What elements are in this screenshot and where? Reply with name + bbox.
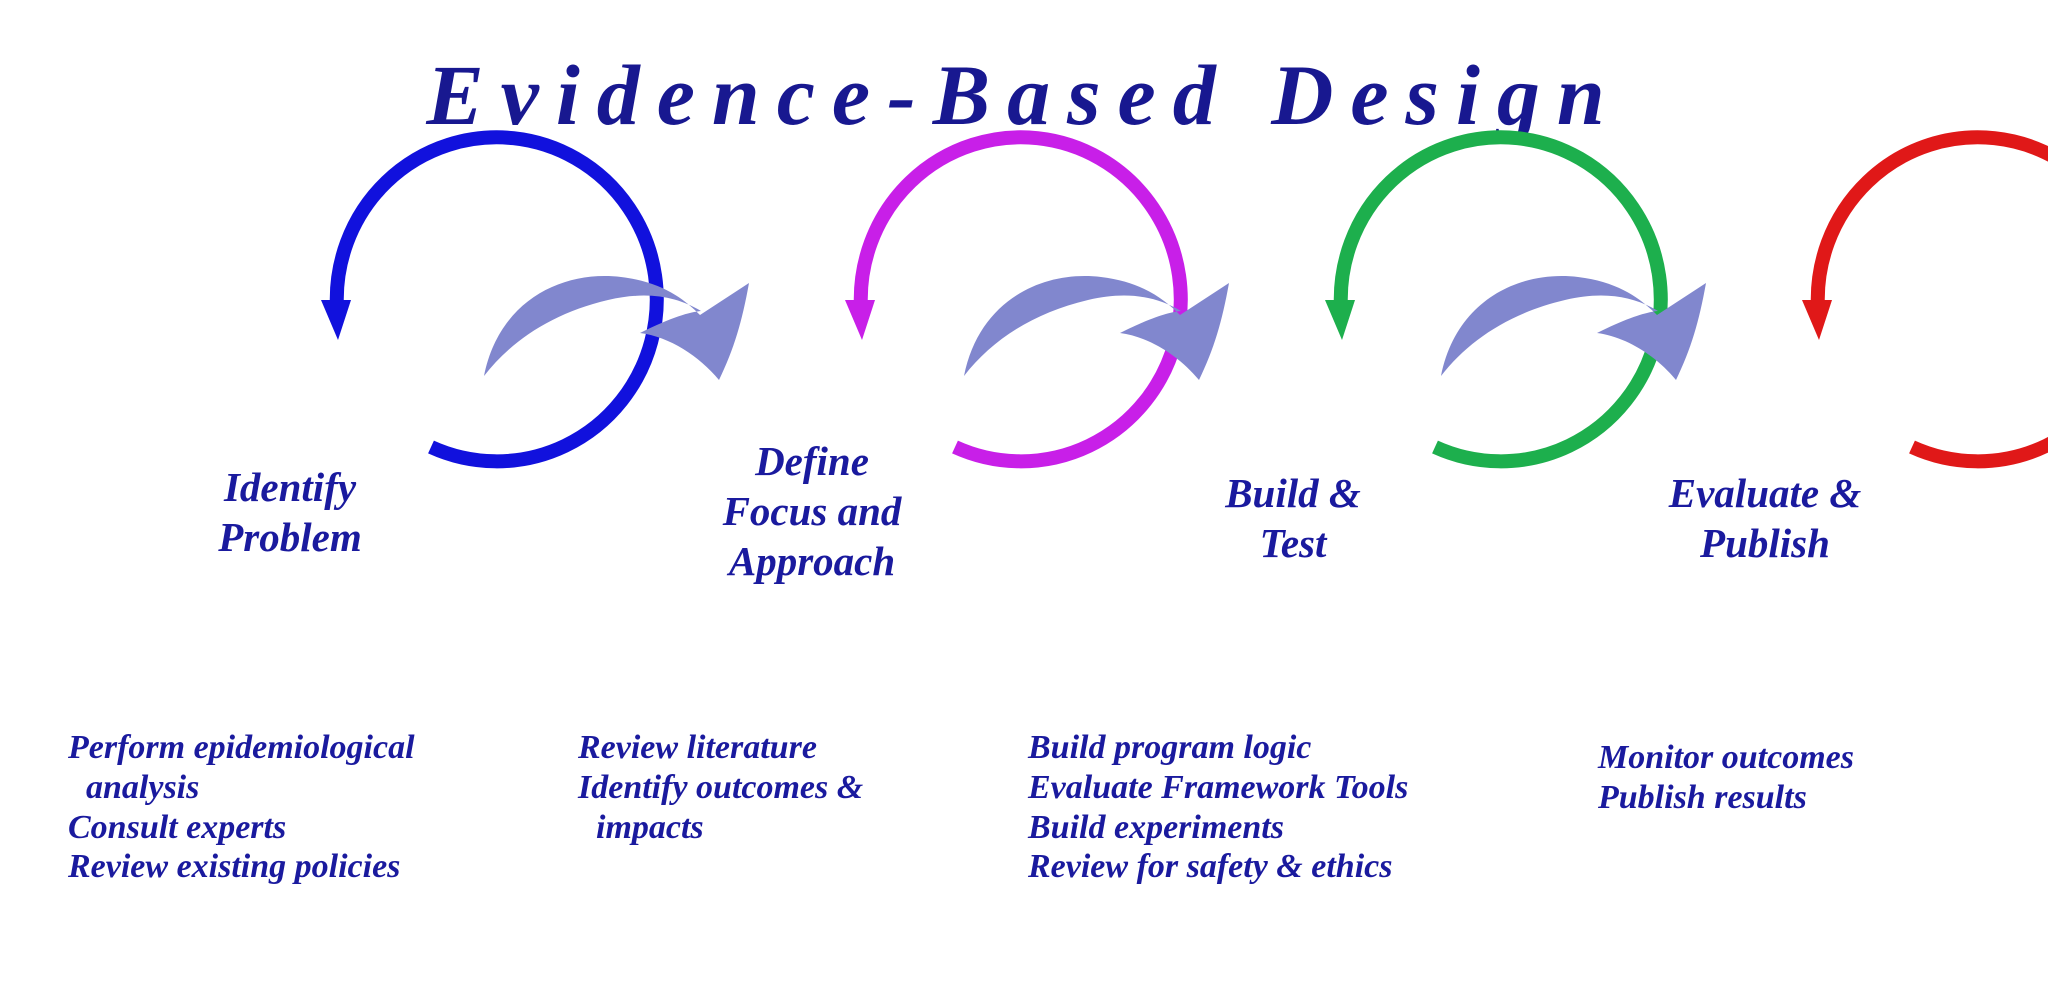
caption-line: Review literature	[578, 728, 863, 768]
caption-line: Monitor outcomes	[1598, 738, 1854, 778]
captions-define-focus-and-approach: Review literature Identify outcomes & im…	[578, 728, 863, 847]
captions-evaluate-and-publish: Monitor outcomes Publish results	[1598, 738, 1854, 818]
ring-arrowhead-4	[1802, 300, 1832, 340]
ring-arc-4	[1818, 137, 2048, 461]
captions-identify-problem: Perform epidemiological analysis Consult…	[68, 728, 415, 887]
caption-line: Evaluate Framework Tools	[1028, 768, 1408, 808]
connector-arrow-shape-1	[484, 276, 749, 380]
caption-line: Identify outcomes &	[578, 768, 863, 808]
caption-line: Review for safety & ethics	[1028, 847, 1408, 887]
stage-ring-evaluate-and-publish	[1802, 137, 2048, 461]
connector-arrow-shape-2	[964, 276, 1229, 380]
diagram-canvas: Evidence-Based Design	[0, 0, 2048, 1000]
connector-arrow-1-to-2	[484, 276, 749, 380]
caption-line: Build program logic	[1028, 728, 1408, 768]
caption-line: Consult experts	[68, 808, 415, 848]
caption-line: Perform epidemiological	[68, 728, 415, 768]
ring-arrowhead-1	[321, 300, 351, 340]
ring-arrowhead-3	[1325, 300, 1355, 340]
captions-build-and-test: Build program logic Evaluate Framework T…	[1028, 728, 1408, 887]
caption-line: Publish results	[1598, 778, 1854, 818]
caption-line: Review existing policies	[68, 847, 415, 887]
caption-line: Build experiments	[1028, 808, 1408, 848]
caption-line: impacts	[578, 808, 863, 848]
ring-arrowhead-2	[845, 300, 875, 340]
connector-arrow-2-to-3	[964, 276, 1229, 380]
caption-line: analysis	[68, 768, 415, 808]
